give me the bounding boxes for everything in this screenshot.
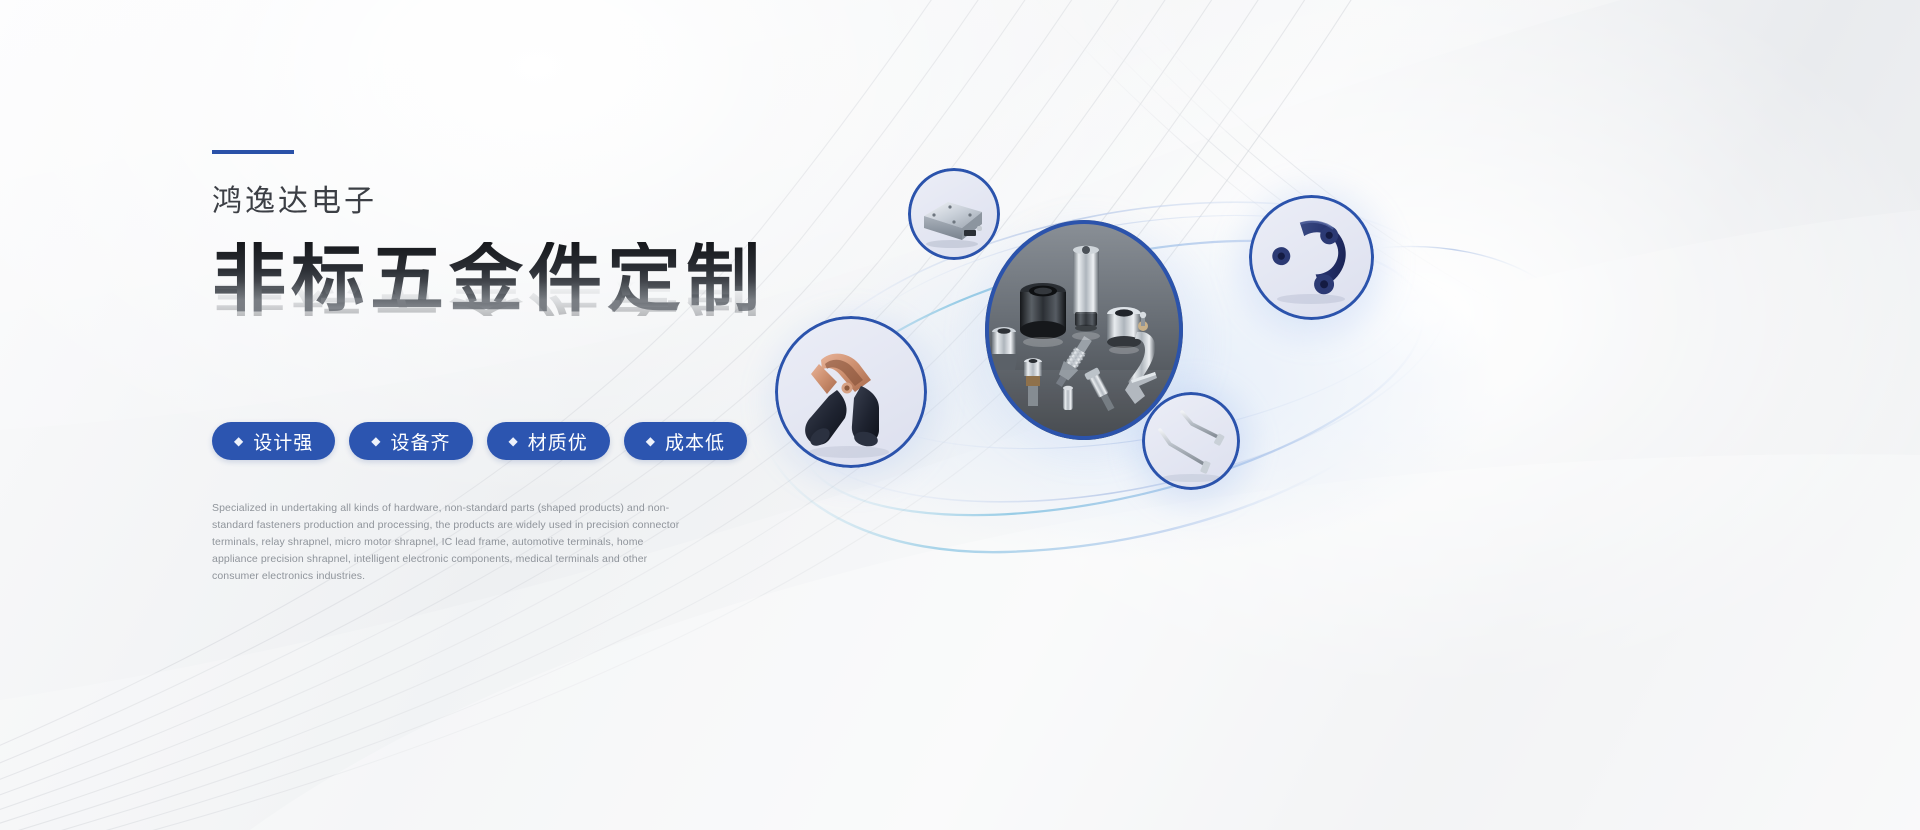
accent-bar bbox=[212, 150, 294, 154]
terminal-pins-illustration bbox=[1142, 392, 1240, 490]
company-description: Specialized in undertaking all kinds of … bbox=[212, 500, 682, 585]
feature-pill-material[interactable]: ◆ 材质优 bbox=[487, 422, 610, 460]
bubble-navy-retaining-snap-ring[interactable] bbox=[1249, 195, 1374, 320]
feature-pill-equipment[interactable]: ◆ 设备齐 bbox=[349, 422, 472, 460]
product-showcase bbox=[740, 120, 1920, 680]
feature-pill-design[interactable]: ◆ 设计强 bbox=[212, 422, 335, 460]
feature-pill-label: 设备齐 bbox=[390, 428, 450, 455]
diamond-icon: ◆ bbox=[646, 435, 656, 447]
diamond-icon: ◆ bbox=[234, 435, 244, 447]
feature-pill-label: 设计强 bbox=[253, 428, 313, 455]
battery-clamp-illustration bbox=[775, 316, 927, 468]
snap-ring-illustration bbox=[1249, 195, 1374, 320]
bubble-sheet-metal-enclosure[interactable] bbox=[908, 168, 1000, 260]
feature-pill-label: 成本低 bbox=[665, 428, 725, 455]
diamond-icon: ◆ bbox=[509, 435, 519, 447]
bubble-bent-wire-terminal-pins[interactable] bbox=[1142, 392, 1240, 490]
enclosure-illustration bbox=[908, 168, 1000, 260]
diamond-icon: ◆ bbox=[371, 435, 381, 447]
hero-banner: 鸿逸达电子 非标五金件定制 非标五金件定制 ◆ 设计强 ◆ 设备齐 ◆ 材质优 … bbox=[0, 0, 1920, 830]
feature-pill-label: 材质优 bbox=[528, 428, 588, 455]
feature-pill-cost[interactable]: ◆ 成本低 bbox=[624, 422, 747, 460]
bubble-copper-battery-clamp[interactable] bbox=[775, 316, 927, 468]
